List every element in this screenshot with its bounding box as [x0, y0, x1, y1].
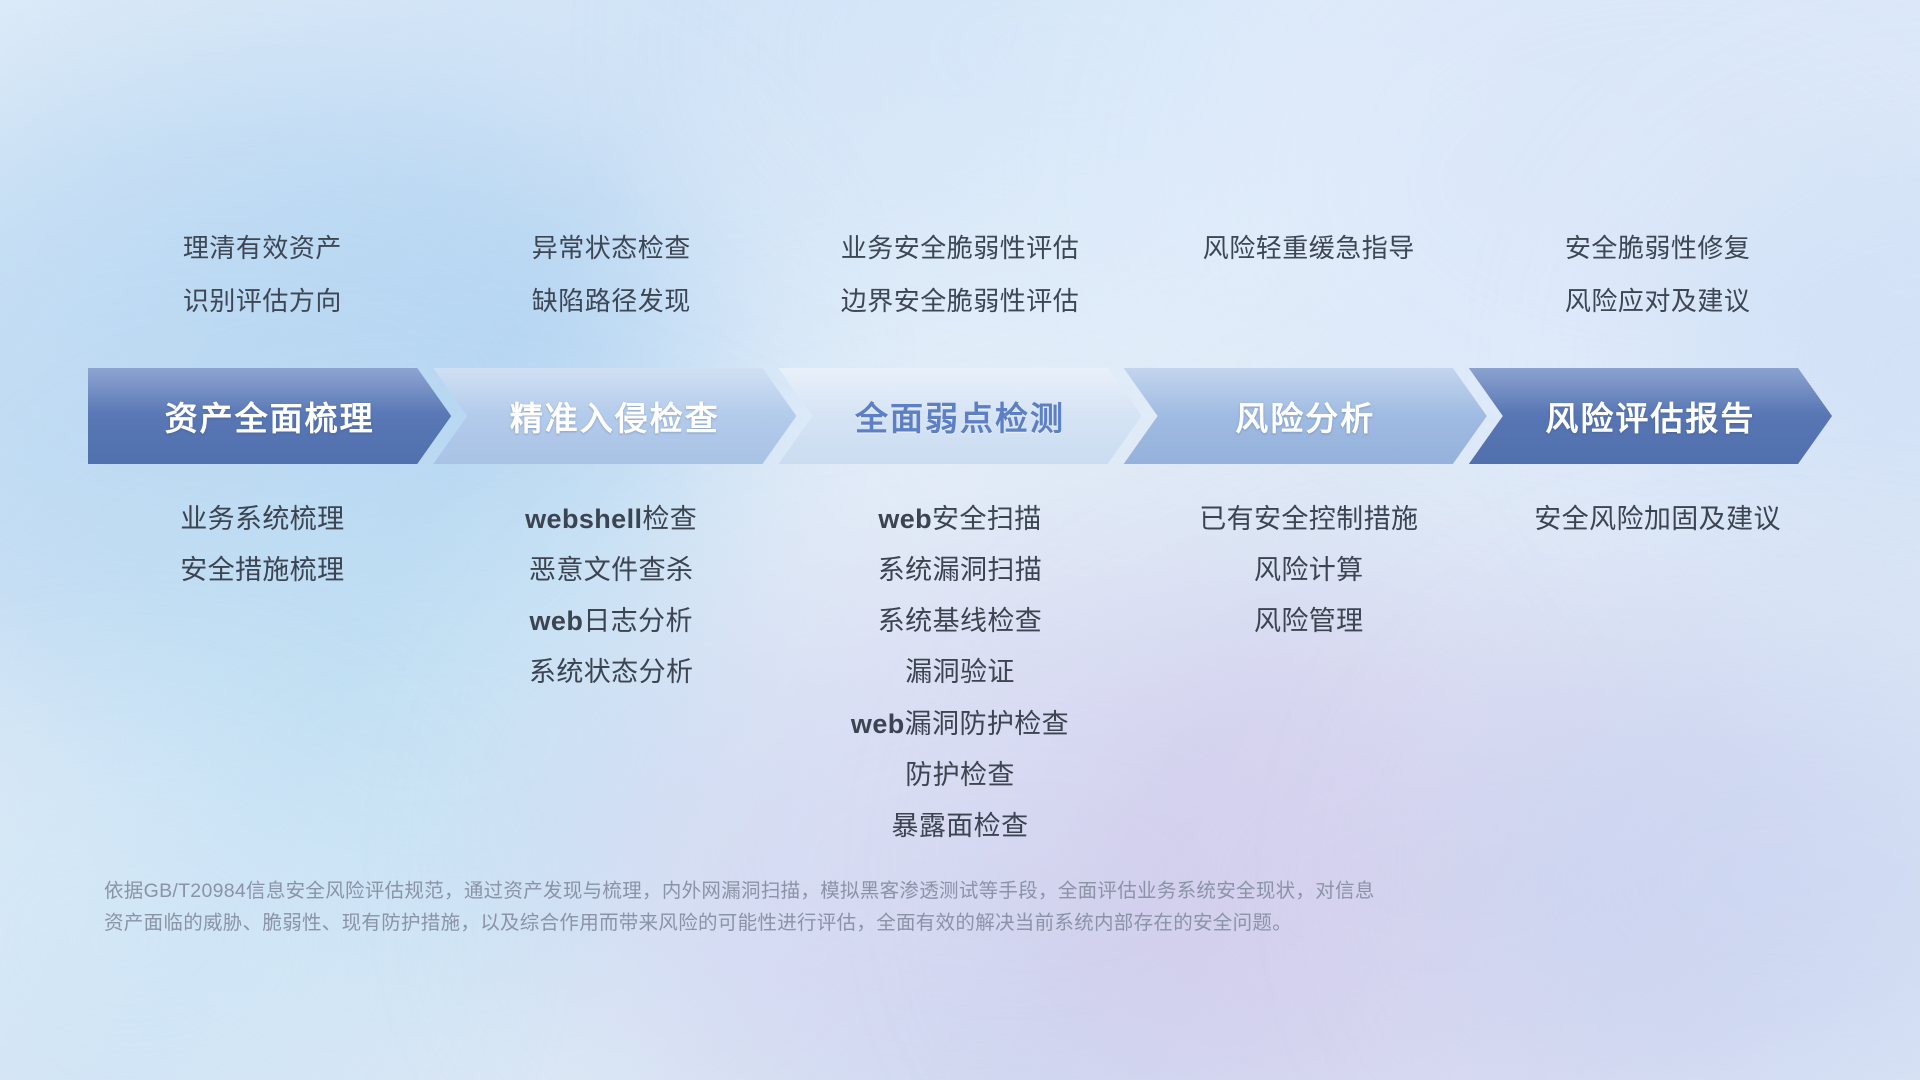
- bottom-label: 风险管理: [1254, 602, 1364, 641]
- top-label-row: 理清有效资产 识别评估方向 异常状态检查 缺陷路径发现 业务安全脆弱性评估 边界…: [88, 228, 1832, 318]
- process-diagram: 理清有效资产 识别评估方向 异常状态检查 缺陷路径发现 业务安全脆弱性评估 边界…: [0, 0, 1920, 1080]
- bottom-column-3: web安全扫描系统漏洞扫描系统基线检查漏洞验证web漏洞防护检查防护检查暴露面检…: [786, 500, 1135, 846]
- bottom-label: 业务系统梳理: [180, 500, 344, 539]
- stage-chevron-4[interactable]: 风险分析: [1124, 368, 1487, 464]
- stage-chevron-5[interactable]: 风险评估报告: [1469, 368, 1832, 464]
- bottom-label: 系统漏洞扫描: [878, 551, 1042, 590]
- top-label: 缺陷路径发现: [532, 281, 691, 318]
- bottom-label: web日志分析: [530, 602, 693, 641]
- bottom-label: 漏洞验证: [905, 653, 1015, 692]
- bottom-column-4: 已有安全控制措施风险计算风险管理: [1134, 500, 1483, 641]
- stage-label: 全面弱点检测: [855, 392, 1065, 440]
- top-column-2: 异常状态检查 缺陷路径发现: [437, 228, 786, 318]
- stage-chevron-1[interactable]: 资产全面梳理: [88, 368, 451, 464]
- stage-chevron-3[interactable]: 全面弱点检测: [778, 368, 1141, 464]
- bottom-label: 系统状态分析: [529, 653, 693, 692]
- bottom-label: 暴露面检查: [891, 807, 1028, 846]
- bottom-label: 恶意文件查杀: [529, 551, 693, 590]
- top-label: 安全脆弱性修复: [1565, 228, 1751, 265]
- top-column-4: 风险轻重缓急指导: [1134, 228, 1483, 318]
- bottom-label: web安全扫描: [878, 500, 1041, 539]
- bottom-label: 已有安全控制措施: [1199, 500, 1418, 539]
- stage-label: 资产全面梳理: [165, 392, 375, 440]
- footer-line: 资产面临的威胁、脆弱性、现有防护措施，以及综合作用而带来风险的可能性进行评估，全…: [104, 908, 1644, 940]
- bottom-label: 系统基线检查: [878, 602, 1042, 641]
- bottom-label: webshell检查: [525, 500, 697, 539]
- stage-arrow-band: 资产全面梳理 精准入侵检查 全面弱点检测 风险分析 风险评估报告: [88, 368, 1832, 464]
- top-label: 理清有效资产: [183, 228, 342, 265]
- top-label: 识别评估方向: [183, 281, 342, 318]
- stage-label: 精准入侵检查: [510, 392, 720, 440]
- top-column-5: 安全脆弱性修复 风险应对及建议: [1483, 228, 1832, 318]
- bottom-label-emphasis: web: [851, 709, 905, 739]
- footer-line: 依据GB/T20984信息安全风险评估规范，通过资产发现与梳理，内外网漏洞扫描，…: [104, 876, 1644, 908]
- stage-chevron-2[interactable]: 精准入侵检查: [433, 368, 796, 464]
- bottom-label: web漏洞防护检查: [851, 705, 1069, 744]
- bottom-column-5: 安全风险加固及建议: [1483, 500, 1832, 539]
- top-column-3: 业务安全脆弱性评估 边界安全脆弱性评估: [786, 228, 1135, 318]
- bottom-label: 安全措施梳理: [180, 551, 344, 590]
- bottom-label: 风险计算: [1254, 551, 1364, 590]
- top-label: 风险轻重缓急指导: [1203, 228, 1415, 265]
- bottom-label-emphasis: webshell: [525, 504, 642, 534]
- stage-label: 风险评估报告: [1545, 392, 1755, 440]
- top-label: 风险应对及建议: [1565, 281, 1751, 318]
- bottom-column-2: webshell检查恶意文件查杀web日志分析系统状态分析: [437, 500, 786, 693]
- stage-label: 风险分析: [1235, 392, 1375, 440]
- bottom-label-row: 业务系统梳理安全措施梳理 webshell检查恶意文件查杀web日志分析系统状态…: [88, 500, 1832, 846]
- top-label: 业务安全脆弱性评估: [841, 228, 1080, 265]
- bottom-label: 安全风险加固及建议: [1534, 500, 1781, 539]
- footer-description: 依据GB/T20984信息安全风险评估规范，通过资产发现与梳理，内外网漏洞扫描，…: [104, 876, 1644, 939]
- top-column-1: 理清有效资产 识别评估方向: [88, 228, 437, 318]
- bottom-column-1: 业务系统梳理安全措施梳理: [88, 500, 437, 590]
- bottom-label-emphasis: web: [530, 606, 584, 636]
- bottom-label: 防护检查: [905, 756, 1015, 795]
- top-label: 边界安全脆弱性评估: [841, 281, 1080, 318]
- bottom-label-emphasis: web: [878, 504, 932, 534]
- top-label: 异常状态检查: [532, 228, 691, 265]
